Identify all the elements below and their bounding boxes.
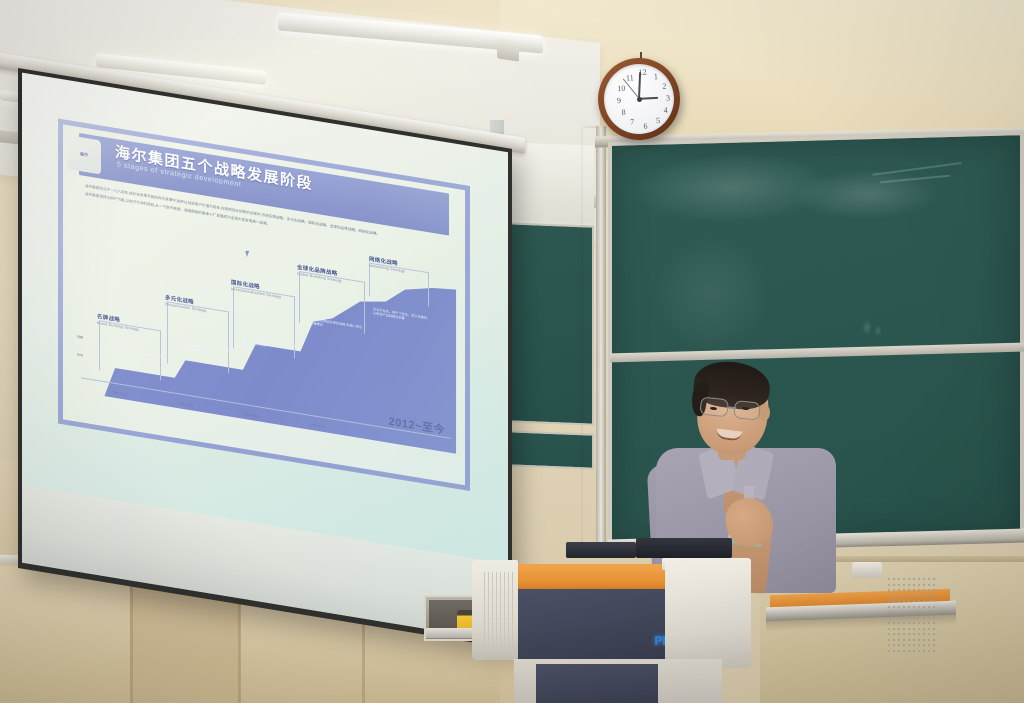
speaker-grill-dot xyxy=(908,639,910,641)
speaker-grill-dot xyxy=(893,611,895,613)
podium-left-vent xyxy=(484,572,514,654)
speaker-grill-dot xyxy=(908,644,910,646)
speaker-grill-dot xyxy=(918,595,920,597)
speaker-grill-dot xyxy=(913,622,915,624)
speaker-grill-dot xyxy=(918,589,920,591)
slide: 海尔 海尔集团五个战略发展阶段 5 stages of strategic de… xyxy=(58,119,470,491)
speaker-grill-dot xyxy=(893,622,895,624)
speaker-grill-dot xyxy=(933,650,935,652)
speaker-grill-dot xyxy=(913,589,915,591)
slide-body: 海尔 海尔集团五个战略发展阶段 5 stages of strategic de… xyxy=(63,124,465,485)
speaker-grill-dot xyxy=(923,622,925,624)
speaker-grill-dot xyxy=(898,617,900,619)
speaker-grill-dot xyxy=(903,595,905,597)
projection-screen: 海尔 海尔集团五个战略发展阶段 5 stages of strategic de… xyxy=(18,68,512,649)
speaker-grill-dot xyxy=(918,639,920,641)
projector-screen-roller-cap xyxy=(497,38,519,61)
speaker-grill-dot xyxy=(933,606,935,608)
speaker-grill-dot xyxy=(903,578,905,580)
speaker-grill-dot xyxy=(933,578,935,580)
speaker-grill-dot xyxy=(923,611,925,613)
speaker-grill-dot xyxy=(933,611,935,613)
speaker-grill-dot xyxy=(913,633,915,635)
speaker-grill-dot xyxy=(898,622,900,624)
clock-numeral-4: 4 xyxy=(660,105,671,116)
podium-laptop[interactable] xyxy=(636,538,732,558)
speaker-grill-dot xyxy=(888,600,890,602)
speaker-grill-dot xyxy=(923,595,925,597)
speaker-grill-dot xyxy=(913,644,915,646)
clock-face: 12 1 2 3 4 5 6 7 8 9 10 11 xyxy=(602,62,676,136)
mouse-cursor-icon xyxy=(245,251,252,258)
speaker-grill-dot xyxy=(903,650,905,652)
speaker-grill-dot xyxy=(928,595,930,597)
speaker-grill-dot xyxy=(923,600,925,602)
speaker-grill-dot xyxy=(923,650,925,652)
speaker-grill-dot xyxy=(913,617,915,619)
speaker-grill-dot xyxy=(923,617,925,619)
speaker-grill-dot xyxy=(928,600,930,602)
speaker-grill-dot xyxy=(913,628,915,630)
podium-right-side-panel xyxy=(665,558,751,668)
clock-numeral-9: 9 xyxy=(614,96,625,107)
speaker-grill-dot xyxy=(933,622,935,624)
speaker-grill-dot xyxy=(893,617,895,619)
speaker-grill-dot xyxy=(918,617,920,619)
speaker-grill-dot xyxy=(888,595,890,597)
speaker-grill-dot xyxy=(893,578,895,580)
speaker-grill-dot xyxy=(908,617,910,619)
speaker-grill-dot xyxy=(923,628,925,630)
speaker-grill-dot xyxy=(913,595,915,597)
speaker-grill-dot xyxy=(913,639,915,641)
clock-numeral-2: 2 xyxy=(659,81,670,92)
speaker-grill-dot xyxy=(908,606,910,608)
speaker-grill-dot xyxy=(908,584,910,586)
speaker-grill-dot xyxy=(933,595,935,597)
blackboard-track-post-inner xyxy=(596,126,606,550)
speaker-grill-dot xyxy=(923,584,925,586)
speaker-grill-dot xyxy=(888,639,890,641)
cable-outlet-icon xyxy=(852,562,882,578)
podium-monitor[interactable] xyxy=(566,542,636,558)
clock-numeral-5: 5 xyxy=(653,116,664,127)
speaker-grill-dot xyxy=(928,578,930,580)
speaker-grill-dot xyxy=(903,628,905,630)
haier-logo-icon: 海尔 xyxy=(67,135,101,175)
speaker-grill-dot xyxy=(933,633,935,635)
haier-logo-text: 海尔 xyxy=(80,151,89,158)
speaker-grill-dot xyxy=(888,578,890,580)
speaker-grill-dot xyxy=(923,578,925,580)
speaker-grill-dot xyxy=(888,606,890,608)
speaker-grill-dot xyxy=(933,584,935,586)
speaker-grill-dot xyxy=(933,589,935,591)
speaker-grill-dot xyxy=(903,633,905,635)
speaker-grill-dot xyxy=(918,622,920,624)
speaker-grill-dot xyxy=(898,578,900,580)
speaker-grill-dot xyxy=(918,650,920,652)
speaker-grill-dot xyxy=(928,644,930,646)
speaker-grill-dot xyxy=(908,650,910,652)
speaker-grill-dot xyxy=(893,644,895,646)
speaker-grill-dot xyxy=(933,644,935,646)
speaker-grill-dot xyxy=(923,644,925,646)
podium-base-front xyxy=(536,664,658,703)
stage-box-2 xyxy=(167,301,229,373)
speaker-grill-dot xyxy=(928,622,930,624)
speaker-grill-dot xyxy=(928,639,930,641)
speaker-grill-dot xyxy=(888,644,890,646)
clock-minute-hand xyxy=(638,72,641,99)
speaker-grill-dot xyxy=(928,650,930,652)
speaker-grill-dot xyxy=(898,611,900,613)
podium-left-side-panel xyxy=(472,560,518,660)
speaker-grill-dot xyxy=(908,600,910,602)
glasses-bridge xyxy=(728,406,736,408)
speaker-grill-dot xyxy=(893,633,895,635)
speaker-grill-dot xyxy=(898,628,900,630)
speaker-grill-dot xyxy=(933,628,935,630)
speaker-grill-dot xyxy=(933,617,935,619)
speaker-grill-dot xyxy=(888,628,890,630)
speaker-grill-dot xyxy=(923,633,925,635)
speaker-grill-dot xyxy=(908,595,910,597)
speaker-grill-dot xyxy=(903,600,905,602)
speaker-grill-dot xyxy=(898,644,900,646)
speaker-grill-dot xyxy=(903,617,905,619)
speaker-grill-dot xyxy=(913,584,915,586)
speaker-grill-dot xyxy=(903,644,905,646)
speaker-grill-dot xyxy=(898,589,900,591)
speaker-grill-dot xyxy=(893,650,895,652)
clock-numeral-6: 6 xyxy=(640,121,651,132)
speaker-grill-dot xyxy=(888,633,890,635)
podium-speaker-grill xyxy=(887,576,939,652)
speaker-grill-dot xyxy=(933,639,935,641)
speaker-grill-dot xyxy=(903,584,905,586)
speaker-grill-dot xyxy=(893,595,895,597)
speaker-grill-dot xyxy=(928,606,930,608)
clock-numeral-8: 8 xyxy=(618,108,629,119)
speaker-grill-dot xyxy=(928,611,930,613)
speaker-grill-dot xyxy=(918,628,920,630)
speaker-grill-dot xyxy=(903,639,905,641)
speaker-grill-dot xyxy=(918,633,920,635)
speaker-grill-dot xyxy=(898,639,900,641)
speaker-grill-dot xyxy=(888,650,890,652)
speaker-grill-dot xyxy=(933,600,935,602)
speaker-grill-dot xyxy=(888,589,890,591)
speaker-grill-dot xyxy=(918,611,920,613)
speaker-grill-dot xyxy=(893,589,895,591)
speaker-grill-dot xyxy=(918,606,920,608)
speaker-grill-dot xyxy=(908,611,910,613)
speaker-grill-dot xyxy=(903,611,905,613)
speaker-grill-dot xyxy=(898,606,900,608)
speaker-grill-dot xyxy=(918,644,920,646)
speaker-grill-dot xyxy=(888,617,890,619)
speaker-grill-dot xyxy=(903,606,905,608)
speaker-grill-dot xyxy=(893,628,895,630)
speaker-grill-dot xyxy=(908,633,910,635)
clock-numeral-3: 3 xyxy=(663,93,674,104)
lectern[interactable]: PKU xyxy=(466,556,826,703)
speaker-grill-dot xyxy=(913,600,915,602)
speaker-grill-dot xyxy=(893,606,895,608)
side-blackboard-lower xyxy=(508,430,594,469)
speaker-grill-dot xyxy=(913,578,915,580)
clock-center-pin xyxy=(636,96,641,101)
speaker-grill-dot xyxy=(903,589,905,591)
speaker-grill-dot xyxy=(913,611,915,613)
speaker-grill-dot xyxy=(903,622,905,624)
speaker-grill-dot xyxy=(928,628,930,630)
speaker-grill-dot xyxy=(928,584,930,586)
speaker-grill-dot xyxy=(923,606,925,608)
clock-numeral-1: 1 xyxy=(651,72,662,83)
speaker-grill-dot xyxy=(888,584,890,586)
speaker-grill-dot xyxy=(893,600,895,602)
speaker-grill-dot xyxy=(918,584,920,586)
speaker-grill-dot xyxy=(908,589,910,591)
speaker-grill-dot xyxy=(923,589,925,591)
speaker-grill-dot xyxy=(913,650,915,652)
speaker-grill-dot xyxy=(898,595,900,597)
speaker-grill-dot xyxy=(888,622,890,624)
speaker-grill-dot xyxy=(923,639,925,641)
clock-numeral-10: 10 xyxy=(616,84,627,95)
side-blackboard-upper xyxy=(508,222,594,425)
speaker-grill-dot xyxy=(908,628,910,630)
speaker-grill-dot xyxy=(893,639,895,641)
speaker-grill-dot xyxy=(898,584,900,586)
speaker-grill-dot xyxy=(908,622,910,624)
speaker-grill-dot xyxy=(893,584,895,586)
speaker-grill-dot xyxy=(913,606,915,608)
side-whiteboard-panel xyxy=(510,142,594,223)
speaker-grill-dot xyxy=(928,633,930,635)
speaker-grill-dot xyxy=(898,633,900,635)
clock-hour-hand xyxy=(639,97,658,100)
speaker-grill-dot xyxy=(898,650,900,652)
classroom-scene: 12 1 2 3 4 5 6 7 8 9 10 11 xyxy=(0,0,1024,703)
speaker-grill-dot xyxy=(928,589,930,591)
speaker-grill-dot xyxy=(918,600,920,602)
speaker-grill-dot xyxy=(888,611,890,613)
speaker-grill-dot xyxy=(908,578,910,580)
projection-surface: 海尔 海尔集团五个战略发展阶段 5 stages of strategic de… xyxy=(22,73,508,643)
speaker-grill-dot xyxy=(898,600,900,602)
speaker-grill-dot xyxy=(918,578,920,580)
speaker-grill-dot xyxy=(928,617,930,619)
glasses-lens-right xyxy=(733,400,761,421)
clock-numeral-7: 7 xyxy=(627,117,638,128)
